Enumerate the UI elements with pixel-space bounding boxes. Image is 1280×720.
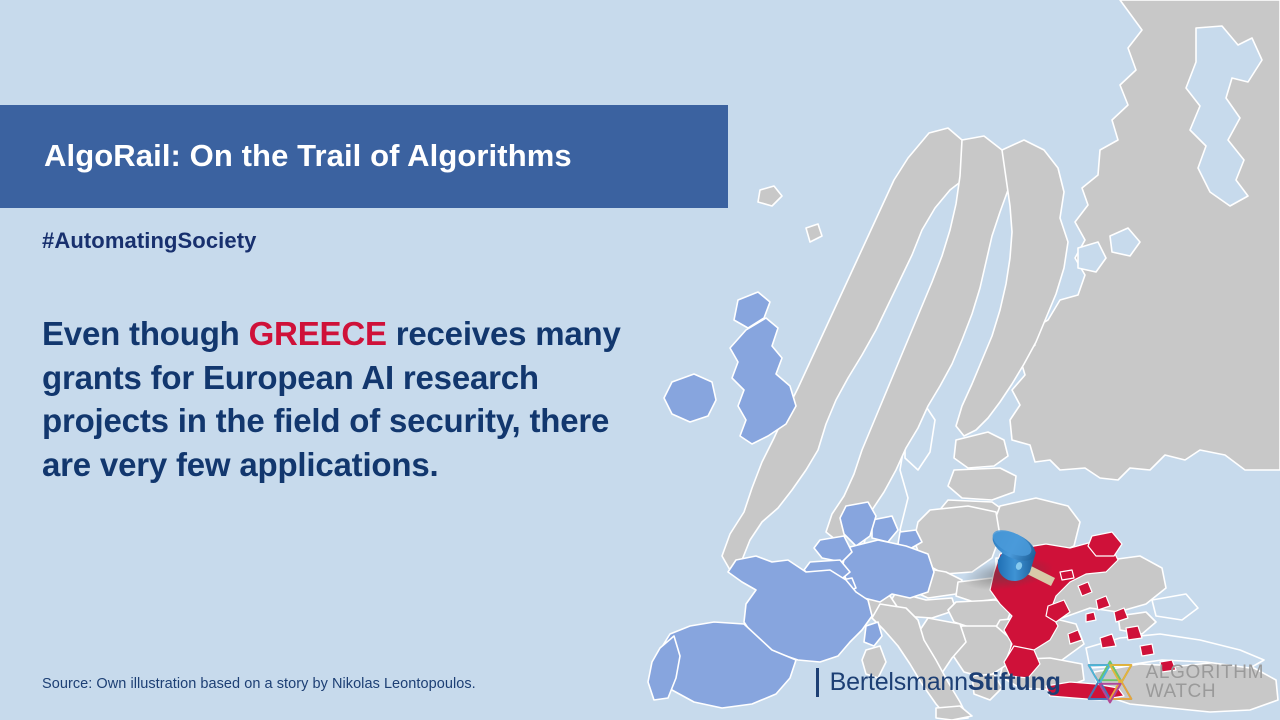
footer-logo-group: BertelsmannStiftung ALGORITHM WATCH	[816, 658, 1264, 706]
statement-text: Even though GREECE receives many grants …	[42, 312, 622, 486]
statement-highlight-country: GREECE	[249, 315, 387, 352]
algorithm-word: ALGORITHM	[1146, 663, 1264, 682]
bertelsmann-stiftung-wordmark: BertelsmannStiftung	[830, 668, 1061, 697]
hashtag-label: #AutomatingSociety	[42, 228, 257, 254]
slide-canvas: AlgoRail: On the Trail of Algorithms #Au…	[0, 0, 1280, 720]
bertelsmann-stiftung-logo: BertelsmannStiftung	[816, 668, 1061, 697]
algorithmwatch-wordmark: ALGORITHM WATCH	[1146, 663, 1264, 701]
statement-before: Even though	[42, 315, 249, 352]
logo-divider-bar	[816, 668, 819, 697]
bertelsmann-word: Bertelsmann	[830, 668, 968, 696]
title-banner: AlgoRail: On the Trail of Algorithms	[0, 105, 728, 208]
algorithmwatch-logo: ALGORITHM WATCH	[1083, 658, 1264, 706]
hexagram-icon	[1083, 658, 1137, 706]
watch-word: WATCH	[1146, 682, 1264, 701]
source-note: Source: Own illustration based on a stor…	[42, 676, 476, 692]
stiftung-word: Stiftung	[968, 668, 1061, 696]
page-title: AlgoRail: On the Trail of Algorithms	[0, 139, 572, 173]
